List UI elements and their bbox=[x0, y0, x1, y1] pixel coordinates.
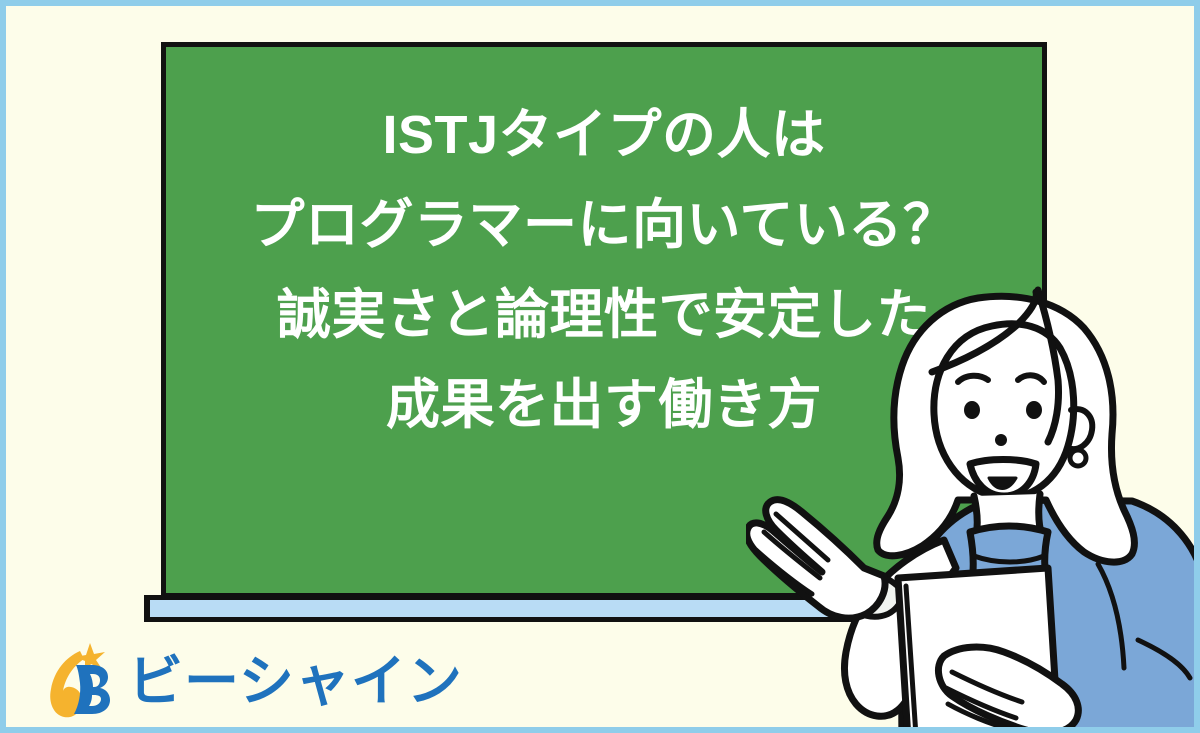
title-line-2: プログラマーに向いている？ bbox=[166, 180, 1042, 270]
nose bbox=[995, 434, 1007, 446]
earring bbox=[1070, 450, 1086, 466]
title-line-1: ISTJタイプの人は bbox=[166, 90, 1042, 180]
presenting-woman-illustration bbox=[746, 268, 1200, 733]
woman-figure bbox=[746, 268, 1200, 733]
thumbnail-canvas: ISTJタイプの人は プログラマーに向いている？ 誠実さと論理性で安定した 成果… bbox=[0, 0, 1200, 733]
logo-mark-icon bbox=[46, 643, 118, 719]
b-shine-logo[interactable]: ビーシャイン bbox=[46, 643, 463, 719]
eye-right bbox=[1026, 401, 1042, 419]
logo-text: ビーシャイン bbox=[128, 654, 463, 709]
eye-left bbox=[964, 401, 980, 419]
logo-letter-b bbox=[74, 665, 110, 714]
